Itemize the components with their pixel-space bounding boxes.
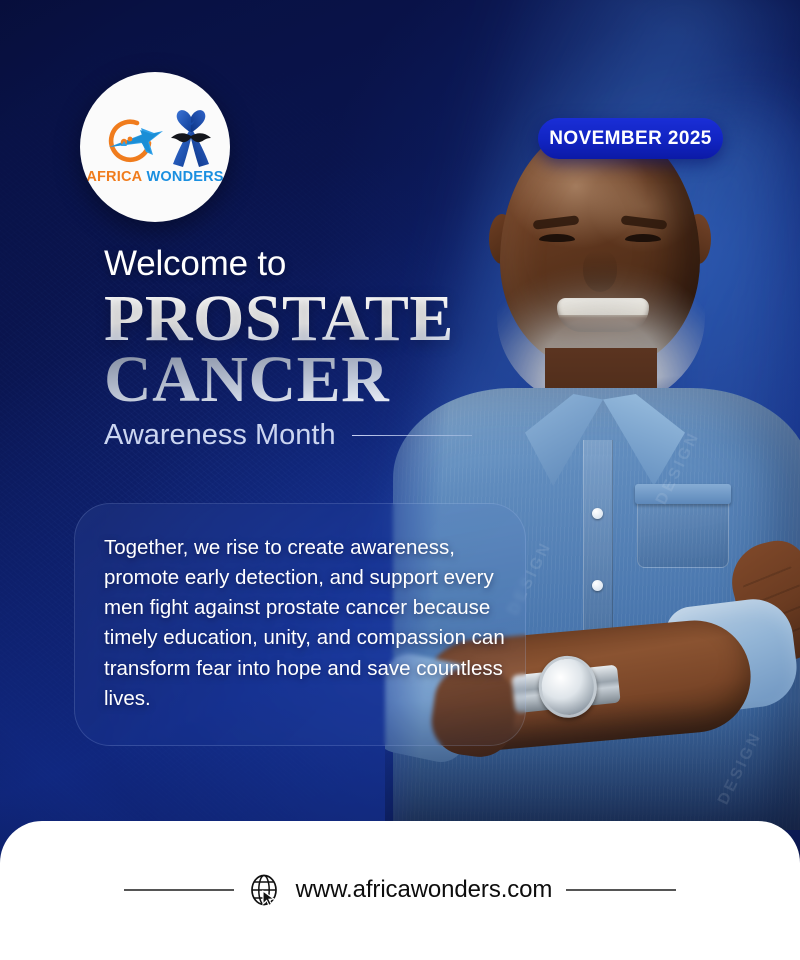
date-badge-label: NOVEMBER 2025 [549, 128, 712, 150]
footer-content: www.africawonders.com [124, 873, 677, 907]
brand-logo-text: AFRICA WONDERS [86, 169, 223, 185]
footer-panel: www.africawonders.com [0, 821, 800, 960]
footer-divider-left [124, 889, 234, 891]
headline-block: Welcome to PROSTATE CANCER Awareness Mon… [104, 246, 564, 450]
brand-logo-text-wonders: WONDERS [147, 169, 224, 185]
date-badge[interactable]: NOVEMBER 2025 [538, 118, 723, 159]
poster-canvas: DESIGN DESIGN DESIGN [0, 0, 800, 960]
brand-logo-marks [93, 109, 217, 171]
headline-divider-line [352, 435, 472, 437]
blue-awareness-ribbon-mustache-icon [165, 107, 217, 169]
body-paragraph: Together, we rise to create awareness, p… [104, 533, 524, 714]
headline-welcome: Welcome to [104, 246, 564, 281]
headline-subtitle: Awareness Month [104, 421, 336, 450]
headline-line-prostate: PROSTATE [104, 287, 564, 350]
globe-cursor-icon [248, 873, 282, 907]
footer-website-url[interactable]: www.africawonders.com [296, 876, 553, 904]
brand-logo[interactable]: AFRICA WONDERS [80, 72, 230, 222]
headline-subtitle-row: Awareness Month [104, 421, 564, 450]
airplane-swoosh-icon [97, 117, 167, 163]
footer-divider-right [566, 889, 676, 891]
headline-line-cancer: CANCER [104, 348, 564, 413]
brand-logo-text-africa: AFRICA [86, 169, 142, 185]
